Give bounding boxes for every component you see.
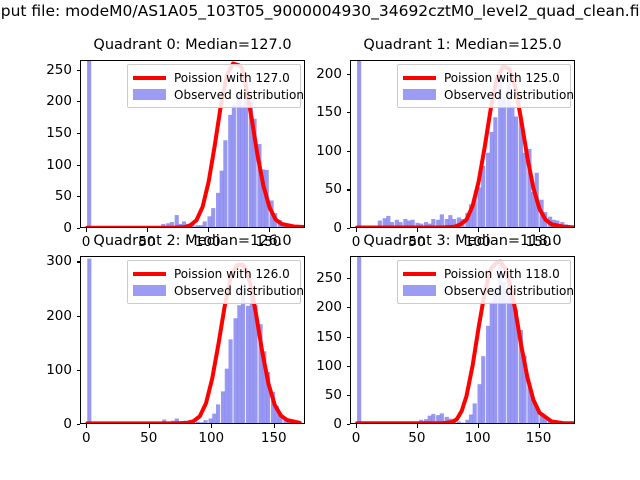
subplot-quadrant-1: Quadrant 1: Median=125.0 050100150200 05…: [350, 60, 575, 228]
x-tick-label: 100: [465, 430, 491, 446]
legend-quadrant-2: Poission with 126.0 Observed distributio…: [127, 260, 301, 304]
y-tick-label: 250: [46, 62, 72, 78]
legend-patch-swatch-icon: [133, 89, 166, 100]
legend-label-observed: Observed distribution: [444, 284, 574, 298]
x-tick-mark: [417, 424, 418, 428]
y-tick-label: 50: [55, 188, 72, 204]
legend-label-observed: Observed distribution: [444, 88, 574, 102]
legend-quadrant-1: Poission with 125.0 Observed distributio…: [397, 64, 571, 108]
subplot-quadrant-3: Quadrant 3: Median=118.0 050100150200250…: [350, 256, 575, 424]
y-tick-label: 0: [333, 416, 342, 432]
y-tick-mark: [77, 165, 81, 166]
x-tick-label: 0: [352, 234, 361, 250]
y-tick-label: 0: [333, 220, 342, 236]
y-tick-mark: [347, 151, 351, 152]
x-tick-label: 0: [352, 430, 361, 446]
legend-quadrant-0: Poission with 127.0 Observed distributio…: [127, 64, 301, 108]
y-tick-mark: [347, 278, 351, 279]
y-tick-label: 100: [316, 358, 342, 374]
legend-entry-observed: Observed distribution: [403, 86, 564, 103]
subplot-title-quadrant-2: Quadrant 2: Median=126.0: [93, 233, 291, 249]
y-tick-label: 0: [63, 416, 72, 432]
x-tick-label: 0: [82, 430, 91, 446]
legend-patch-swatch-icon: [403, 89, 436, 100]
legend-label-poisson: Poission with 118.0: [444, 267, 560, 281]
x-tick-label: 50: [140, 430, 157, 446]
x-tick-mark: [208, 228, 209, 232]
y-tick-mark: [347, 424, 351, 425]
y-tick-mark: [77, 261, 81, 262]
x-tick-mark: [149, 424, 150, 428]
legend-line-swatch-icon: [133, 76, 166, 80]
x-tick-label: 50: [408, 430, 425, 446]
x-tick-mark: [86, 424, 87, 428]
y-tick-label: 200: [316, 299, 342, 315]
x-tick-mark: [269, 228, 270, 232]
y-tick-mark: [77, 424, 81, 425]
legend-entry-poisson: Poission with 118.0: [403, 265, 564, 282]
x-tick-mark: [356, 228, 357, 232]
legend-line-swatch-icon: [133, 272, 166, 276]
y-tick-mark: [347, 228, 351, 229]
y-tick-label: 150: [316, 104, 342, 120]
x-tick-mark: [417, 228, 418, 232]
legend-line-swatch-icon: [403, 76, 436, 80]
x-tick-mark: [147, 228, 148, 232]
x-tick-mark: [86, 228, 87, 232]
y-tick-label: 200: [316, 66, 342, 82]
subplot-title-quadrant-1: Quadrant 1: Median=125.0: [363, 37, 561, 53]
legend-quadrant-3: Poission with 118.0 Observed distributio…: [397, 260, 571, 304]
x-tick-label: 100: [198, 430, 224, 446]
y-tick-mark: [347, 337, 351, 338]
y-tick-label: 150: [46, 125, 72, 141]
y-tick-mark: [347, 112, 351, 113]
figure-suptitle: Input file: modeM0/AS1A05_103T05_9000004…: [0, 2, 640, 20]
x-tick-mark: [478, 228, 479, 232]
y-tick-label: 50: [325, 181, 342, 197]
legend-entry-poisson: Poission with 125.0: [403, 69, 564, 86]
legend-patch-swatch-icon: [403, 285, 436, 296]
legend-label-observed: Observed distribution: [174, 88, 304, 102]
y-tick-label: 200: [46, 308, 72, 324]
y-tick-mark: [77, 196, 81, 197]
y-tick-mark: [77, 228, 81, 229]
y-tick-label: 200: [46, 93, 72, 109]
y-tick-label: 0: [63, 220, 72, 236]
legend-entry-observed: Observed distribution: [403, 282, 564, 299]
legend-label-poisson: Poission with 127.0: [174, 71, 290, 85]
y-tick-label: 100: [316, 143, 342, 159]
x-tick-label: 150: [261, 430, 287, 446]
y-tick-mark: [347, 395, 351, 396]
y-tick-label: 150: [316, 329, 342, 345]
legend-label-poisson: Poission with 125.0: [444, 71, 560, 85]
legend-entry-observed: Observed distribution: [133, 86, 294, 103]
matplotlib-figure: Input file: modeM0/AS1A05_103T05_9000004…: [0, 0, 640, 480]
y-tick-mark: [347, 74, 351, 75]
y-tick-mark: [77, 133, 81, 134]
legend-entry-observed: Observed distribution: [133, 282, 294, 299]
legend-patch-swatch-icon: [133, 285, 166, 296]
x-tick-mark: [478, 424, 479, 428]
legend-entry-poisson: Poission with 127.0: [133, 69, 294, 86]
legend-label-poisson: Poission with 126.0: [174, 267, 290, 281]
y-tick-mark: [77, 101, 81, 102]
x-tick-label: 0: [82, 234, 91, 250]
legend-label-observed: Observed distribution: [174, 284, 304, 298]
x-tick-mark: [539, 228, 540, 232]
x-tick-mark: [356, 424, 357, 428]
subplot-title-quadrant-3: Quadrant 3: Median=118.0: [363, 233, 561, 249]
x-tick-mark: [211, 424, 212, 428]
y-tick-label: 50: [325, 387, 342, 403]
y-tick-mark: [77, 370, 81, 371]
y-tick-mark: [347, 307, 351, 308]
legend-line-swatch-icon: [403, 272, 436, 276]
y-tick-mark: [347, 366, 351, 367]
subplot-quadrant-0: Quadrant 0: Median=127.0 050100150200250…: [80, 60, 305, 228]
legend-entry-poisson: Poission with 126.0: [133, 265, 294, 282]
x-tick-mark: [539, 424, 540, 428]
subplot-quadrant-2: Quadrant 2: Median=126.0 0100200300 0501…: [80, 256, 305, 424]
y-tick-mark: [77, 316, 81, 317]
y-tick-mark: [77, 70, 81, 71]
subplot-title-quadrant-0: Quadrant 0: Median=127.0: [93, 37, 291, 53]
x-tick-mark: [274, 424, 275, 428]
y-tick-label: 100: [46, 362, 72, 378]
y-tick-label: 250: [316, 270, 342, 286]
y-tick-label: 100: [46, 157, 72, 173]
x-tick-label: 150: [526, 430, 552, 446]
y-tick-mark: [347, 189, 351, 190]
y-tick-label: 300: [46, 253, 72, 269]
